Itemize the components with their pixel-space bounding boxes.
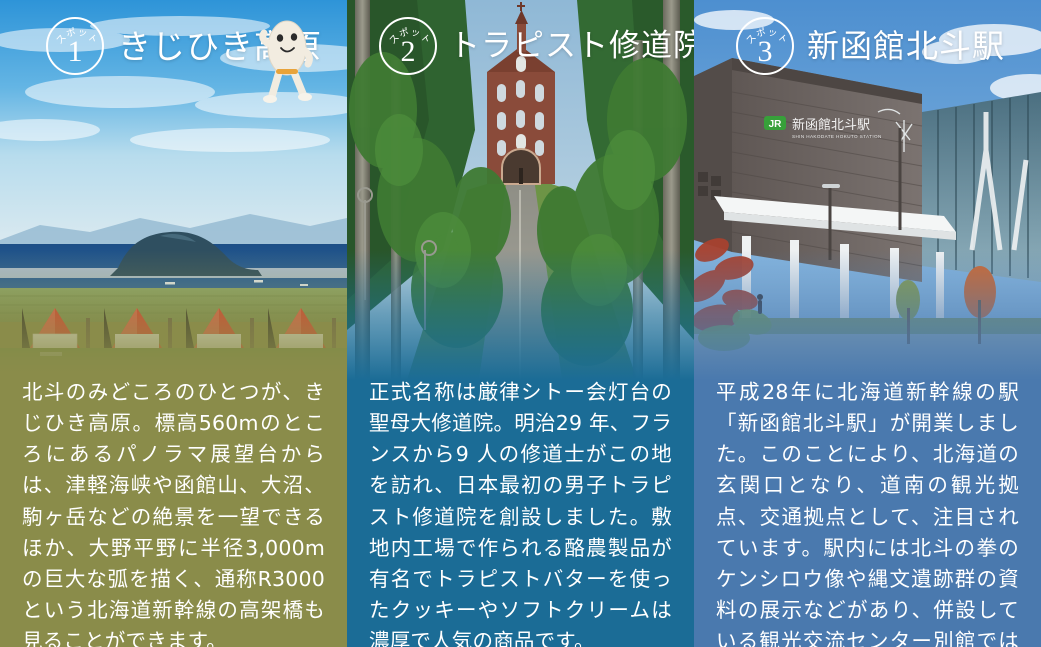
card-3-header: スポット 3 新函館北斗駅: [694, 0, 1041, 92]
badge-arc-label-icon: スポット: [48, 19, 106, 77]
badge-arc-label-icon: スポット: [738, 19, 796, 77]
svg-text:スポット: スポット: [744, 27, 789, 47]
rice-mascot-1-icon: [256, 14, 318, 106]
spot-card-1[interactable]: スポット 1 きじひき高原 北斗のみどころのひとつが、きじ: [0, 0, 347, 647]
spot-badge-3-label: スポット: [744, 27, 789, 47]
card-1-text-panel: 北斗のみどころのひとつが、きじひき高原。標高560mのところにあるパノラマ展望台…: [0, 327, 347, 647]
card-2-header: スポット 2 トラピスト修道院: [347, 0, 694, 92]
card-1-body-text: 北斗のみどころのひとつが、きじひき高原。標高560mのところにあるパノラマ展望台…: [22, 377, 325, 647]
svg-text:スポット: スポット: [387, 27, 432, 47]
card-3-text-panel: 平成28年に北海道新幹線の駅「新函館北斗駅」が開業しました。このことにより、北海…: [694, 327, 1041, 647]
spot-badge-1-label: スポット: [54, 27, 99, 47]
spot-card-3[interactable]: JR 新函館北斗駅 SHIN HAKODATE HOKUTO STATION: [694, 0, 1041, 647]
spot-badge-1: スポット 1: [46, 17, 104, 75]
svg-text:新函館北斗駅: 新函館北斗駅: [792, 117, 870, 133]
card-3-body-text: 平成28年に北海道新幹線の駅「新函館北斗駅」が開業しました。このことにより、北海…: [716, 377, 1019, 647]
spot-badge-3: スポット 3: [736, 17, 794, 75]
card-2-body-text: 正式名称は厳律シトー会灯台の聖母大修道院。明治29 年、フランスから9 人の修道…: [369, 377, 672, 647]
svg-text:SHIN HAKODATE HOKUTO STATION: SHIN HAKODATE HOKUTO STATION: [792, 134, 882, 139]
badge-arc-label-icon: スポット: [381, 19, 439, 77]
spot-cards-board: スポット 1 きじひき高原 北斗のみどころのひとつが、きじ: [0, 0, 1041, 647]
spot-title-2: トラピスト修道院: [449, 31, 694, 62]
card-2-text-panel: 正式名称は厳律シトー会灯台の聖母大修道院。明治29 年、フランスから9 人の修道…: [347, 327, 694, 647]
spot-card-2[interactable]: スポット 2 トラピスト修道院 正式名称は厳律シトー会灯台: [347, 0, 694, 647]
svg-text:スポット: スポット: [54, 27, 99, 47]
spot-badge-2: スポット 2: [379, 17, 437, 75]
spot-badge-2-label: スポット: [387, 27, 432, 47]
svg-text:JR: JR: [769, 119, 783, 130]
spot-title-3: 新函館北斗駅: [807, 30, 1005, 62]
